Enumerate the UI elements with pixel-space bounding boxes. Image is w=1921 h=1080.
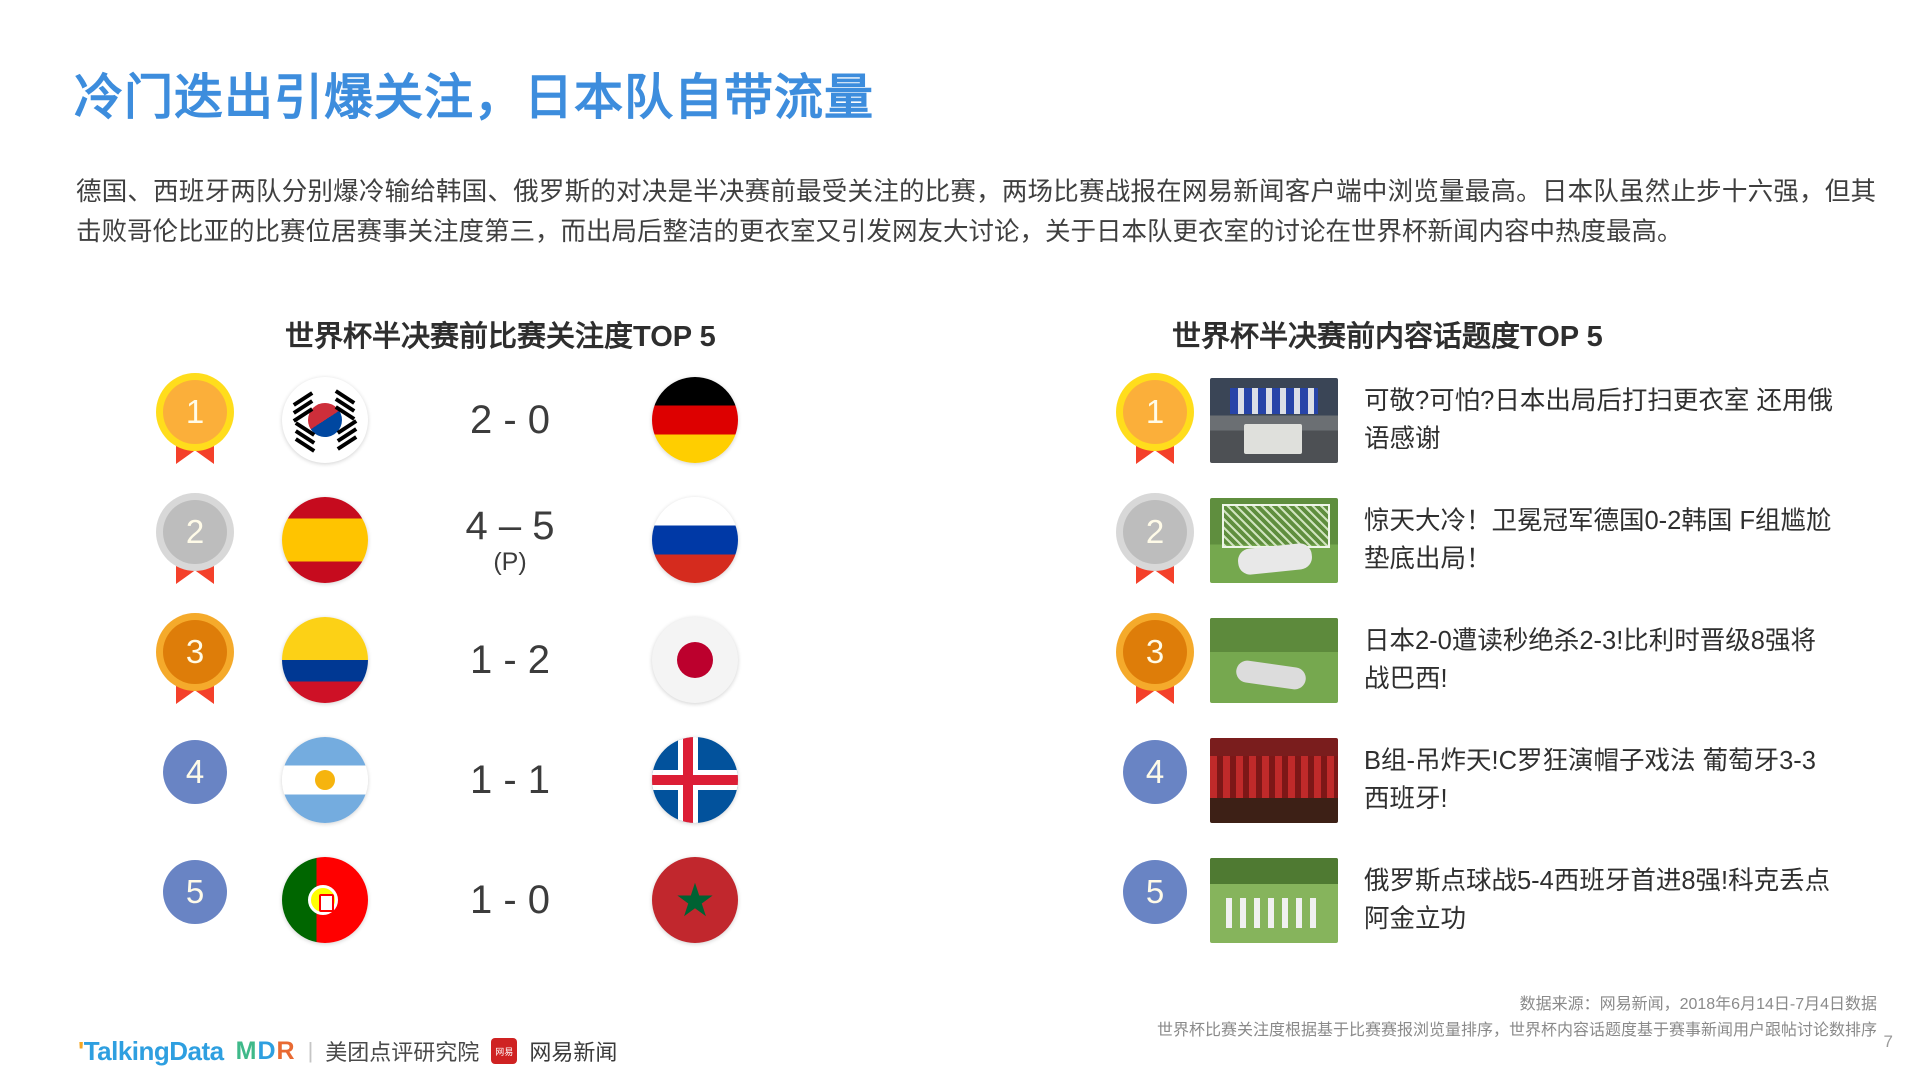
rank-number: 1: [1123, 380, 1187, 444]
flag-korea-icon: [282, 377, 368, 463]
intro-paragraph: 德国、西班牙两队分别爆冷输给韩国、俄罗斯的对决是半决赛前最受关注的比赛，两场比赛…: [76, 172, 1876, 252]
rank-badge-cell: 1: [140, 380, 250, 460]
flag-portugal-icon: [282, 857, 368, 943]
mdr-logo: MDR: [236, 1037, 296, 1066]
topic-thumbnail: [1210, 738, 1338, 823]
rank-badge-1: 1: [163, 380, 227, 460]
match-ranking-list: 1 2 - 0: [140, 370, 900, 970]
meituan-research-logo: 美团点评研究院: [325, 1035, 479, 1067]
rank-badge-cell: 4: [140, 740, 250, 820]
rank-badge-cell: 1: [1100, 380, 1210, 460]
home-flag-cell: [250, 857, 400, 943]
topic-thumbnail: [1210, 618, 1338, 703]
logo-divider: |: [308, 1038, 314, 1064]
table-row: 2 4 – 5 (P): [140, 490, 900, 590]
topic-thumbnail: [1210, 498, 1338, 583]
flag-colombia-icon: [282, 617, 368, 703]
topic-rank-badge-5: 5: [1123, 860, 1187, 940]
rank-number: 3: [163, 620, 227, 684]
rank-badge-cell: 2: [140, 500, 250, 580]
rank-number: 1: [163, 380, 227, 444]
match-score: 1 - 0: [470, 878, 550, 922]
match-score: 1 - 2: [470, 638, 550, 682]
source-line-2: 世界杯比赛关注度根据基于比赛赛报浏览量排序，世界杯内容话题度基于赛事新闻用户跟帖…: [1157, 1018, 1877, 1044]
match-score-cell: 1 - 2: [400, 639, 620, 681]
match-score: 4 – 5: [466, 504, 555, 548]
page-number: 7: [1884, 1032, 1893, 1052]
flag-germany-icon: [652, 377, 738, 463]
list-item: 2 惊天大冷！卫冕冠军德国0-2韩国 F组尴尬垫底出局！: [1100, 490, 1900, 590]
rank-number: 2: [163, 500, 227, 564]
topic-headline: 日本2-0遭读秒绝杀2-3!比利时晋级8强将战巴西!: [1364, 622, 1834, 698]
list-item: 5 俄罗斯点球战5-4西班牙首进8强!科克丢点阿金立功: [1100, 850, 1900, 950]
rank-badge-3: 3: [163, 620, 227, 700]
flag-iceland-icon: [652, 737, 738, 823]
match-score-cell: 4 – 5 (P): [400, 505, 620, 575]
rank-badge-cell: 3: [140, 620, 250, 700]
netease-news-logo: 网易新闻: [529, 1035, 617, 1067]
flag-morocco-icon: ★: [652, 857, 738, 943]
away-flag-cell: [620, 497, 770, 583]
right-section-heading: 世界杯半决赛前内容话题度TOP 5: [1172, 313, 1603, 355]
away-flag-cell: [620, 737, 770, 823]
rank-badge-cell: 4: [1100, 740, 1210, 820]
rank-badge-cell: 2: [1100, 500, 1210, 580]
topic-headline: B组-吊炸天!C罗狂演帽子戏法 葡萄牙3-3西班牙!: [1364, 742, 1834, 818]
match-score-cell: 2 - 0: [400, 399, 620, 441]
source-line-1: 数据来源：网易新闻，2018年6月14日-7月4日数据: [1157, 992, 1877, 1018]
home-flag-cell: [250, 737, 400, 823]
rank-badge-5: 5: [163, 860, 227, 940]
table-row: 5 1 - 0 ★: [140, 850, 900, 950]
rank-number: 5: [1123, 860, 1187, 924]
flag-argentina-icon: [282, 737, 368, 823]
rank-number: 2: [1123, 500, 1187, 564]
topic-ranking-list: 1 可敬?可怕?日本出局后打扫更衣室 还用俄语感谢 2 惊天大冷！卫冕冠军德国0…: [1100, 370, 1900, 970]
topic-rank-badge-3: 3: [1123, 620, 1187, 700]
page-title: 冷门迭出引爆关注，日本队自带流量: [74, 58, 874, 129]
list-item: 3 日本2-0遭读秒绝杀2-3!比利时晋级8强将战巴西!: [1100, 610, 1900, 710]
table-row: 1 2 - 0: [140, 370, 900, 470]
rank-badge-cell: 3: [1100, 620, 1210, 700]
topic-headline: 可敬?可怕?日本出局后打扫更衣室 还用俄语感谢: [1364, 382, 1834, 458]
penalty-note: (P): [400, 549, 620, 575]
topic-headline: 俄罗斯点球战5-4西班牙首进8强!科克丢点阿金立功: [1364, 862, 1834, 938]
home-flag-cell: [250, 497, 400, 583]
topic-rank-badge-4: 4: [1123, 740, 1187, 820]
source-note: 数据来源：网易新闻，2018年6月14日-7月4日数据 世界杯比赛关注度根据基于…: [1157, 992, 1877, 1044]
flag-spain-icon: [282, 497, 368, 583]
rank-badge-cell: 5: [140, 860, 250, 940]
flag-japan-icon: [652, 617, 738, 703]
match-score-cell: 1 - 1: [400, 759, 620, 801]
away-flag-cell: [620, 617, 770, 703]
rank-badge-cell: 5: [1100, 860, 1210, 940]
left-section-heading: 世界杯半决赛前比赛关注度TOP 5: [285, 313, 716, 355]
away-flag-cell: [620, 377, 770, 463]
topic-rank-badge-2: 2: [1123, 500, 1187, 580]
netease-mark-icon: 网易: [491, 1038, 517, 1064]
rank-badge-4: 4: [163, 740, 227, 820]
match-score: 2 - 0: [470, 398, 550, 442]
list-item: 1 可敬?可怕?日本出局后打扫更衣室 还用俄语感谢: [1100, 370, 1900, 470]
match-score: 1 - 1: [470, 758, 550, 802]
footer-logos: 'TalkingData MDR | 美团点评研究院 网易 网易新闻: [78, 1035, 617, 1067]
topic-thumbnail: [1210, 858, 1338, 943]
match-score-cell: 1 - 0: [400, 879, 620, 921]
slide: 冷门迭出引爆关注，日本队自带流量 德国、西班牙两队分别爆冷输给韩国、俄罗斯的对决…: [0, 0, 1921, 1080]
topic-thumbnail: [1210, 378, 1338, 463]
flag-russia-icon: [652, 497, 738, 583]
rank-number: 3: [1123, 620, 1187, 684]
rank-number: 4: [1123, 740, 1187, 804]
talkingdata-logo: 'TalkingData: [78, 1036, 224, 1067]
rank-badge-2: 2: [163, 500, 227, 580]
home-flag-cell: [250, 617, 400, 703]
table-row: 4 1 - 1: [140, 730, 900, 830]
table-row: 3 1 - 2: [140, 610, 900, 710]
topic-rank-badge-1: 1: [1123, 380, 1187, 460]
home-flag-cell: [250, 377, 400, 463]
rank-number: 4: [163, 740, 227, 804]
list-item: 4 B组-吊炸天!C罗狂演帽子戏法 葡萄牙3-3西班牙!: [1100, 730, 1900, 830]
rank-number: 5: [163, 860, 227, 924]
away-flag-cell: ★: [620, 857, 770, 943]
topic-headline: 惊天大冷！卫冕冠军德国0-2韩国 F组尴尬垫底出局！: [1364, 502, 1834, 578]
